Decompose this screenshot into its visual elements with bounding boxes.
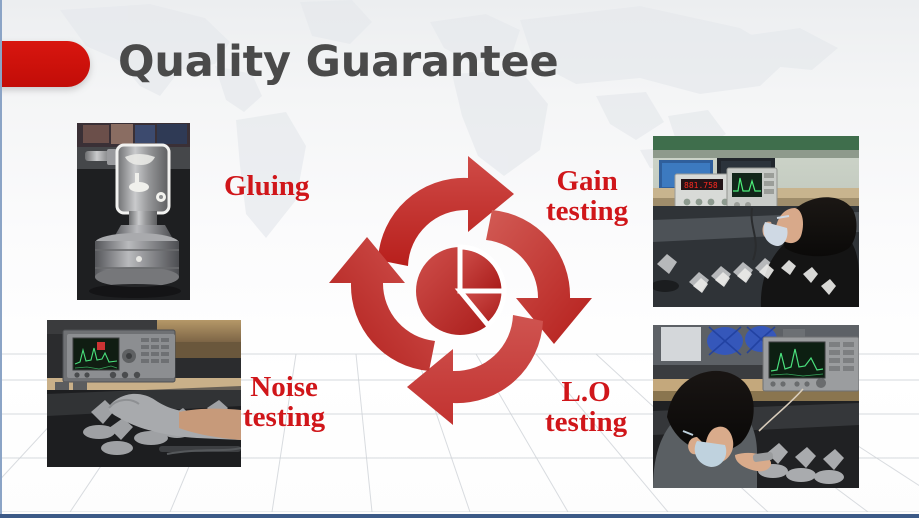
photo-gluing-art — [77, 123, 190, 300]
photo-noise-testing — [47, 320, 241, 467]
photo-noise-art — [47, 320, 241, 467]
label-gluing: Gluing — [224, 171, 309, 201]
photo-gain-art: 881.758 — [653, 136, 859, 307]
label-noise-line1: Noise — [243, 372, 325, 402]
label-gain-testing: Gain testing — [546, 166, 628, 227]
title-accent-pill — [0, 41, 90, 87]
pie-chart-glyph — [416, 247, 504, 335]
label-lo-line1: L.O — [545, 377, 627, 407]
label-lo-testing: L.O testing — [545, 377, 627, 438]
photo-gluing — [77, 123, 190, 300]
page-title: Quality Guarantee — [118, 37, 558, 87]
photo-gain-testing: 881.758 — [653, 136, 859, 307]
label-gluing-text: Gluing — [224, 170, 309, 202]
label-lo-line2: testing — [545, 407, 627, 437]
label-gain-line1: Gain — [546, 166, 628, 196]
label-noise-testing: Noise testing — [243, 372, 325, 433]
bottom-border-rule — [0, 514, 919, 518]
label-gain-line2: testing — [546, 196, 628, 226]
label-noise-line2: testing — [243, 402, 325, 432]
left-border-rule — [0, 0, 2, 518]
slide-canvas: Quality Guarantee — [0, 0, 919, 518]
svg-text:881.758: 881.758 — [684, 181, 718, 190]
photo-lo-testing — [653, 325, 859, 488]
photo-lo-art — [653, 325, 859, 488]
